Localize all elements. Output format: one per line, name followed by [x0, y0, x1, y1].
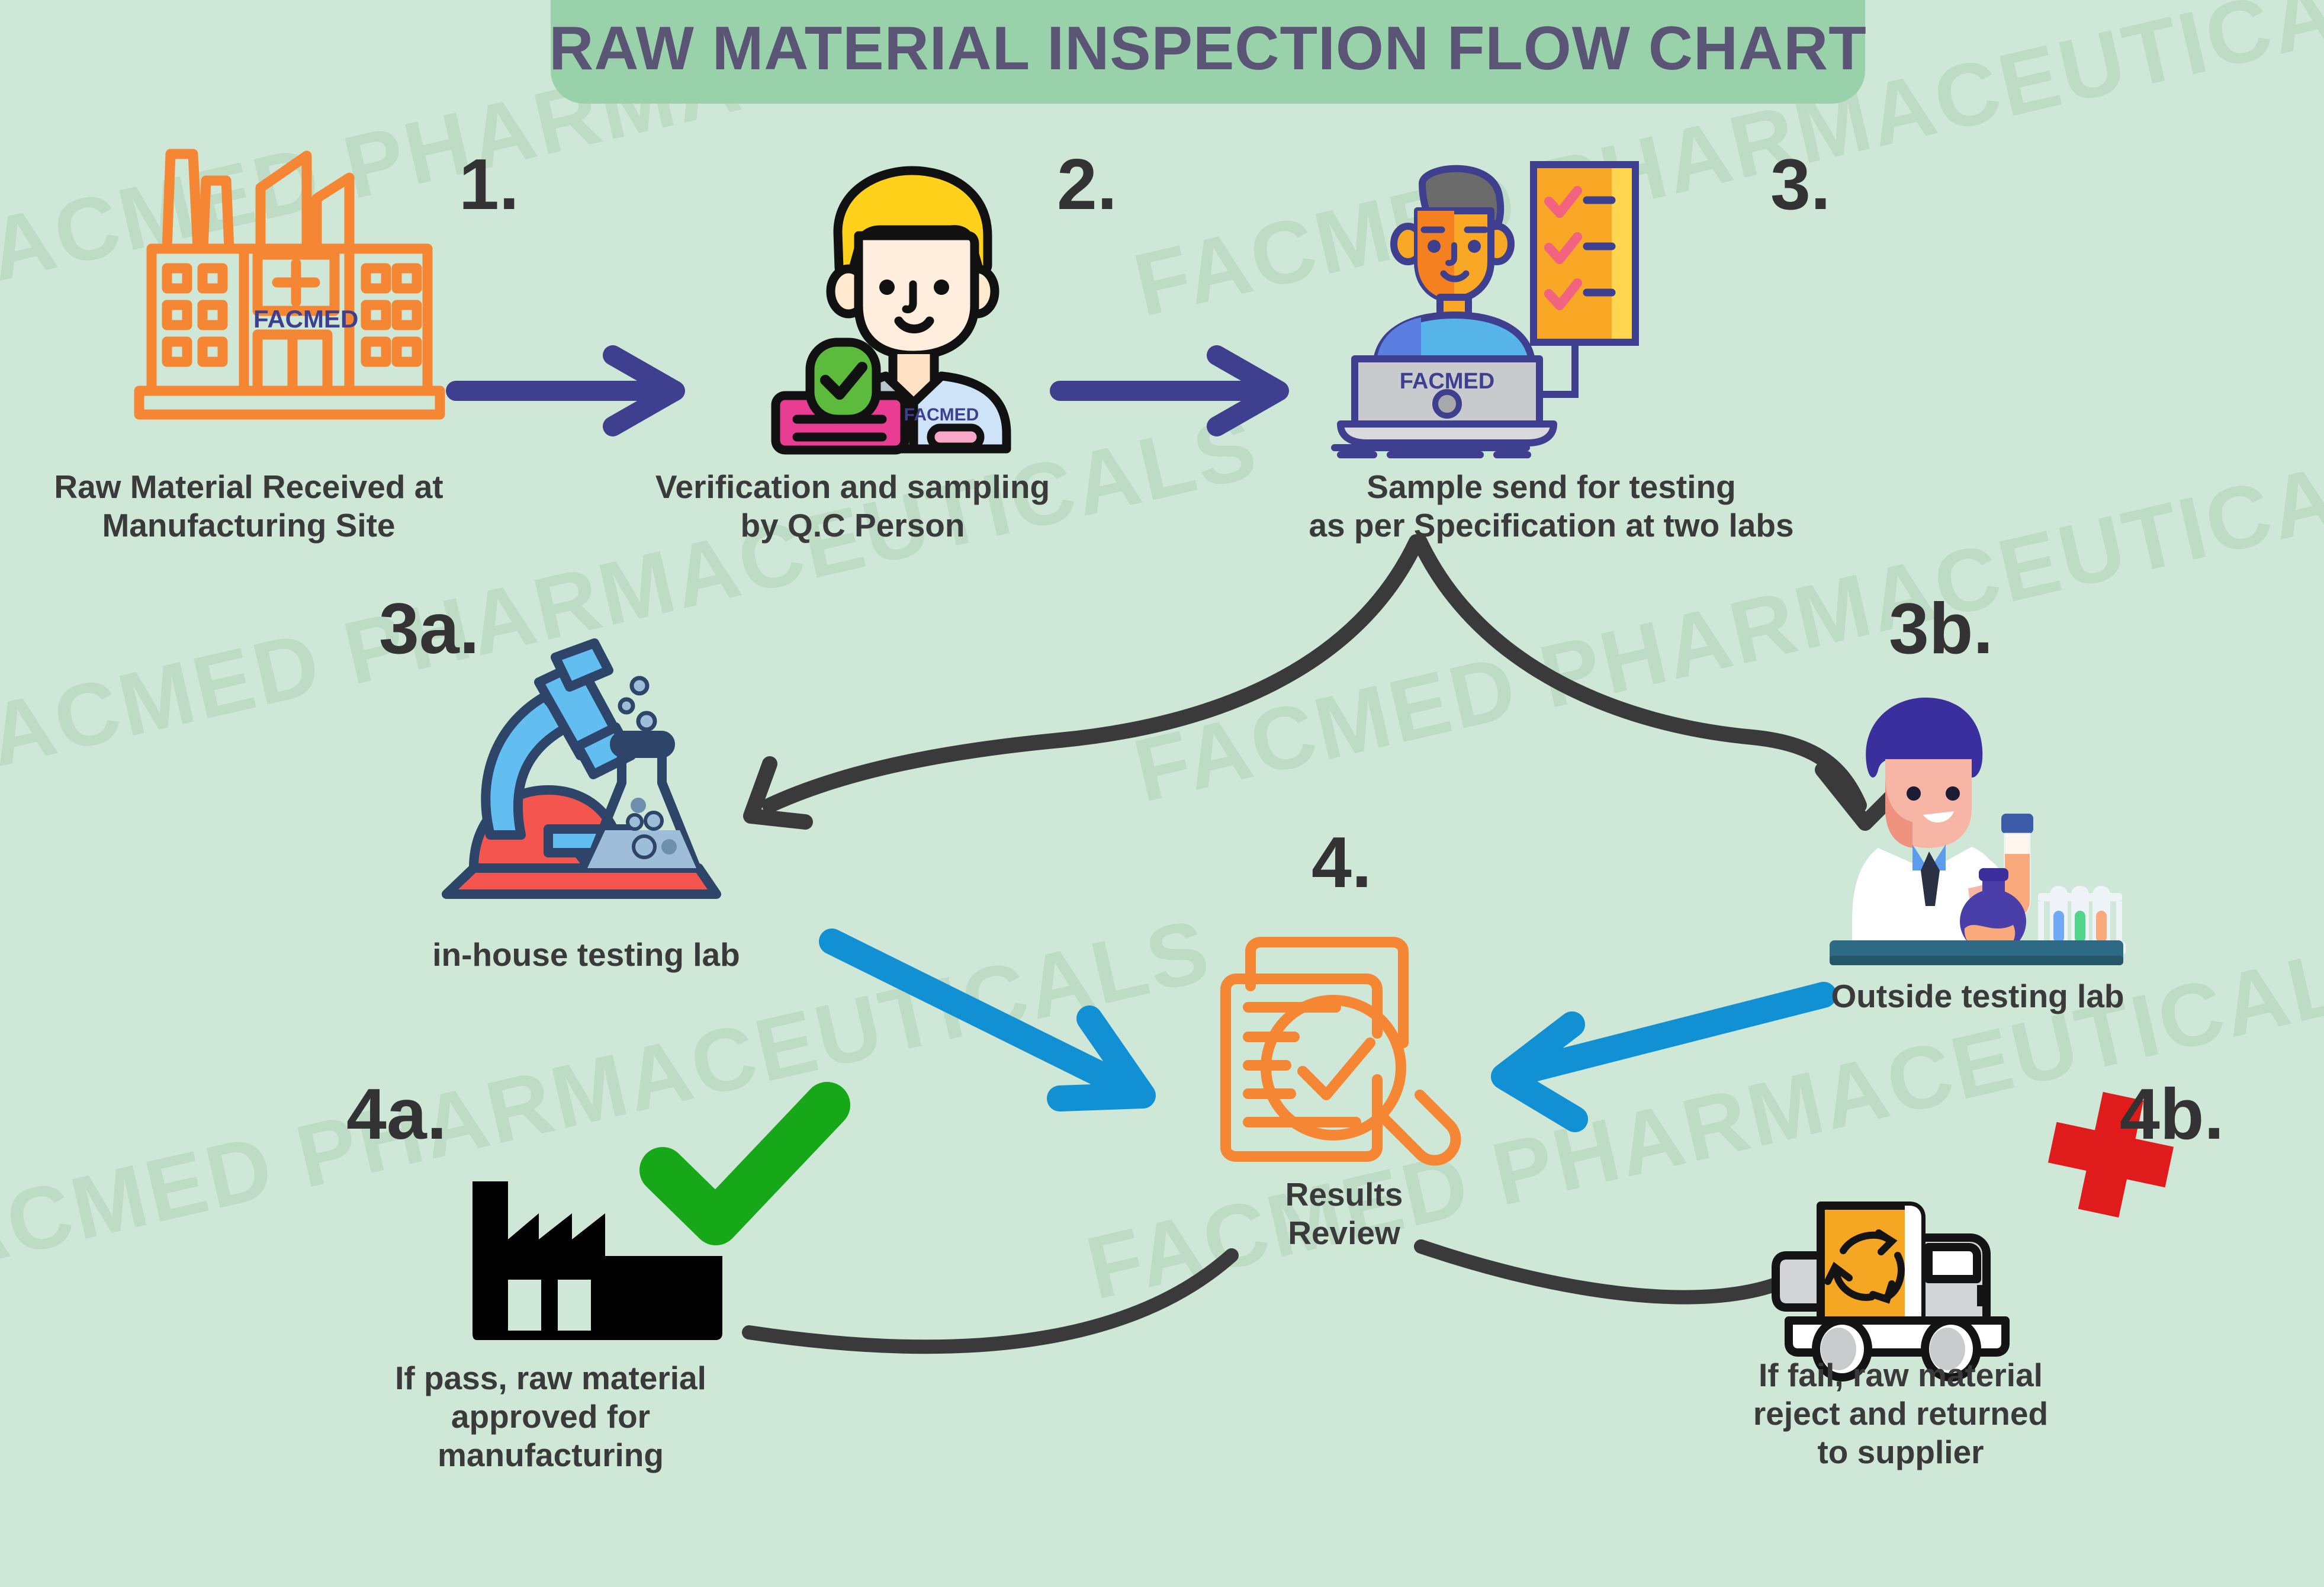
lab-scientist-icon: [1824, 693, 2132, 965]
caption-line: to supplier: [1682, 1433, 2120, 1472]
step-number-3a: 3a.: [379, 592, 480, 664]
document-magnifier-check-icon: [1220, 927, 1468, 1175]
arrow-step2-to-step3: [1060, 355, 1279, 426]
green-check-icon: [642, 1084, 856, 1255]
step-number-4a: 4a.: [346, 1078, 447, 1150]
step-number-1: 1.: [459, 148, 519, 220]
step-number-4b: 4b.: [2120, 1078, 2224, 1150]
step-caption-2: Verification and sampling by Q.C Person: [628, 468, 1078, 545]
arrow-3a-to-results: [832, 942, 1143, 1098]
facmed-badge: FACMED: [253, 305, 358, 333]
caption-line: reject and returned: [1682, 1395, 2120, 1433]
arrow-step1-to-step2: [456, 355, 675, 426]
step-caption-4b: If fail, raw material reject and returne…: [1682, 1356, 2120, 1472]
infographic-canvas: FACMED PHARMACEUTICALS FACMED PHARMACEUT…: [0, 0, 2324, 1587]
step-caption-4a: If pass, raw material approved for manuf…: [332, 1359, 770, 1474]
caption-line: Results: [1178, 1175, 1510, 1214]
facmed-badge: FACMED: [904, 405, 979, 425]
caption-line: Outside testing lab: [1753, 977, 2203, 1016]
step-caption-3b: Outside testing lab: [1753, 977, 2203, 1016]
microscope-flask-icon: [438, 657, 770, 912]
line-results-to-4a: [749, 1255, 1232, 1347]
step-caption-1: Raw Material Received at Manufacturing S…: [41, 468, 456, 545]
caption-line: Raw Material Received at: [41, 468, 456, 506]
line-results-to-4b: [1421, 1247, 1782, 1297]
page-title: RAW MATERIAL INSPECTION FLOW CHART: [549, 14, 1867, 84]
title-banner: RAW MATERIAL INSPECTION FLOW CHART: [551, 0, 1865, 104]
caption-line: If pass, raw material: [332, 1359, 770, 1398]
step-number-2: 2.: [1057, 148, 1117, 220]
step-caption-3: Sample send for testing as per Specifica…: [1255, 468, 1847, 545]
step-number-4: 4.: [1312, 826, 1372, 898]
caption-line: approved for: [332, 1398, 770, 1436]
caption-line: If fail, raw material: [1682, 1356, 2120, 1395]
caption-line: in-house testing lab: [379, 936, 793, 974]
caption-line: as per Specification at two labs: [1255, 506, 1847, 545]
caption-line: Verification and sampling: [628, 468, 1078, 506]
return-truck-icon: [1773, 1196, 2022, 1380]
person-laptop-checklist-icon: FACMED: [1338, 160, 1670, 456]
caption-line: manufacturing: [332, 1436, 770, 1474]
caption-line: by Q.C Person: [628, 506, 1078, 545]
qc-person-icon: FACMED: [764, 166, 1060, 450]
arrow-step3-to-3a: [751, 542, 1416, 822]
caption-line: Manufacturing Site: [41, 506, 456, 545]
facmed-badge: FACMED: [1400, 369, 1494, 394]
caption-line: Sample send for testing: [1255, 468, 1847, 506]
caption-line: Review: [1178, 1214, 1510, 1252]
factory-building-icon: FACMED: [136, 145, 444, 423]
step-caption-3a: in-house testing lab: [379, 936, 793, 974]
step-number-3: 3.: [1770, 148, 1831, 220]
step-number-3b: 3b.: [1889, 592, 1993, 664]
step-caption-4: Results Review: [1178, 1175, 1510, 1252]
